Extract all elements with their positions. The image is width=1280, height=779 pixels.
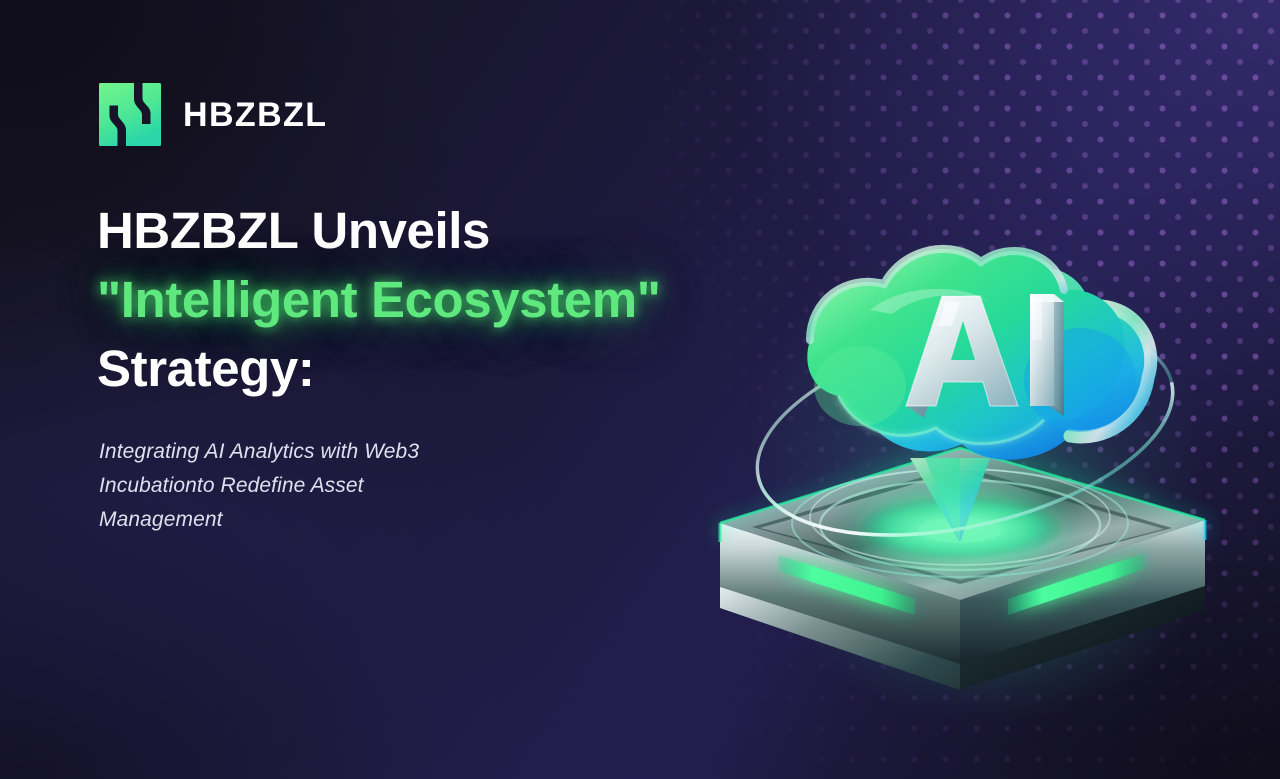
illustration-svg bbox=[660, 190, 1280, 750]
subtitle-line-2: Incubationto Redefine Asset bbox=[99, 469, 519, 503]
ai-cloud-illustration bbox=[660, 190, 1280, 750]
brand-lockup: HBZBZL bbox=[99, 83, 327, 146]
hbzbzl-monogram-icon bbox=[99, 83, 161, 146]
subtitle-line-3: Management bbox=[99, 503, 519, 537]
promo-banner: HBZBZL HBZBZL Unveils "Intelligent Ecosy… bbox=[0, 0, 1280, 779]
subtitle-block: Integrating AI Analytics with Web3 Incub… bbox=[99, 435, 519, 537]
subtitle-line-1: Integrating AI Analytics with Web3 bbox=[99, 435, 519, 469]
brand-wordmark: HBZBZL bbox=[183, 98, 327, 132]
